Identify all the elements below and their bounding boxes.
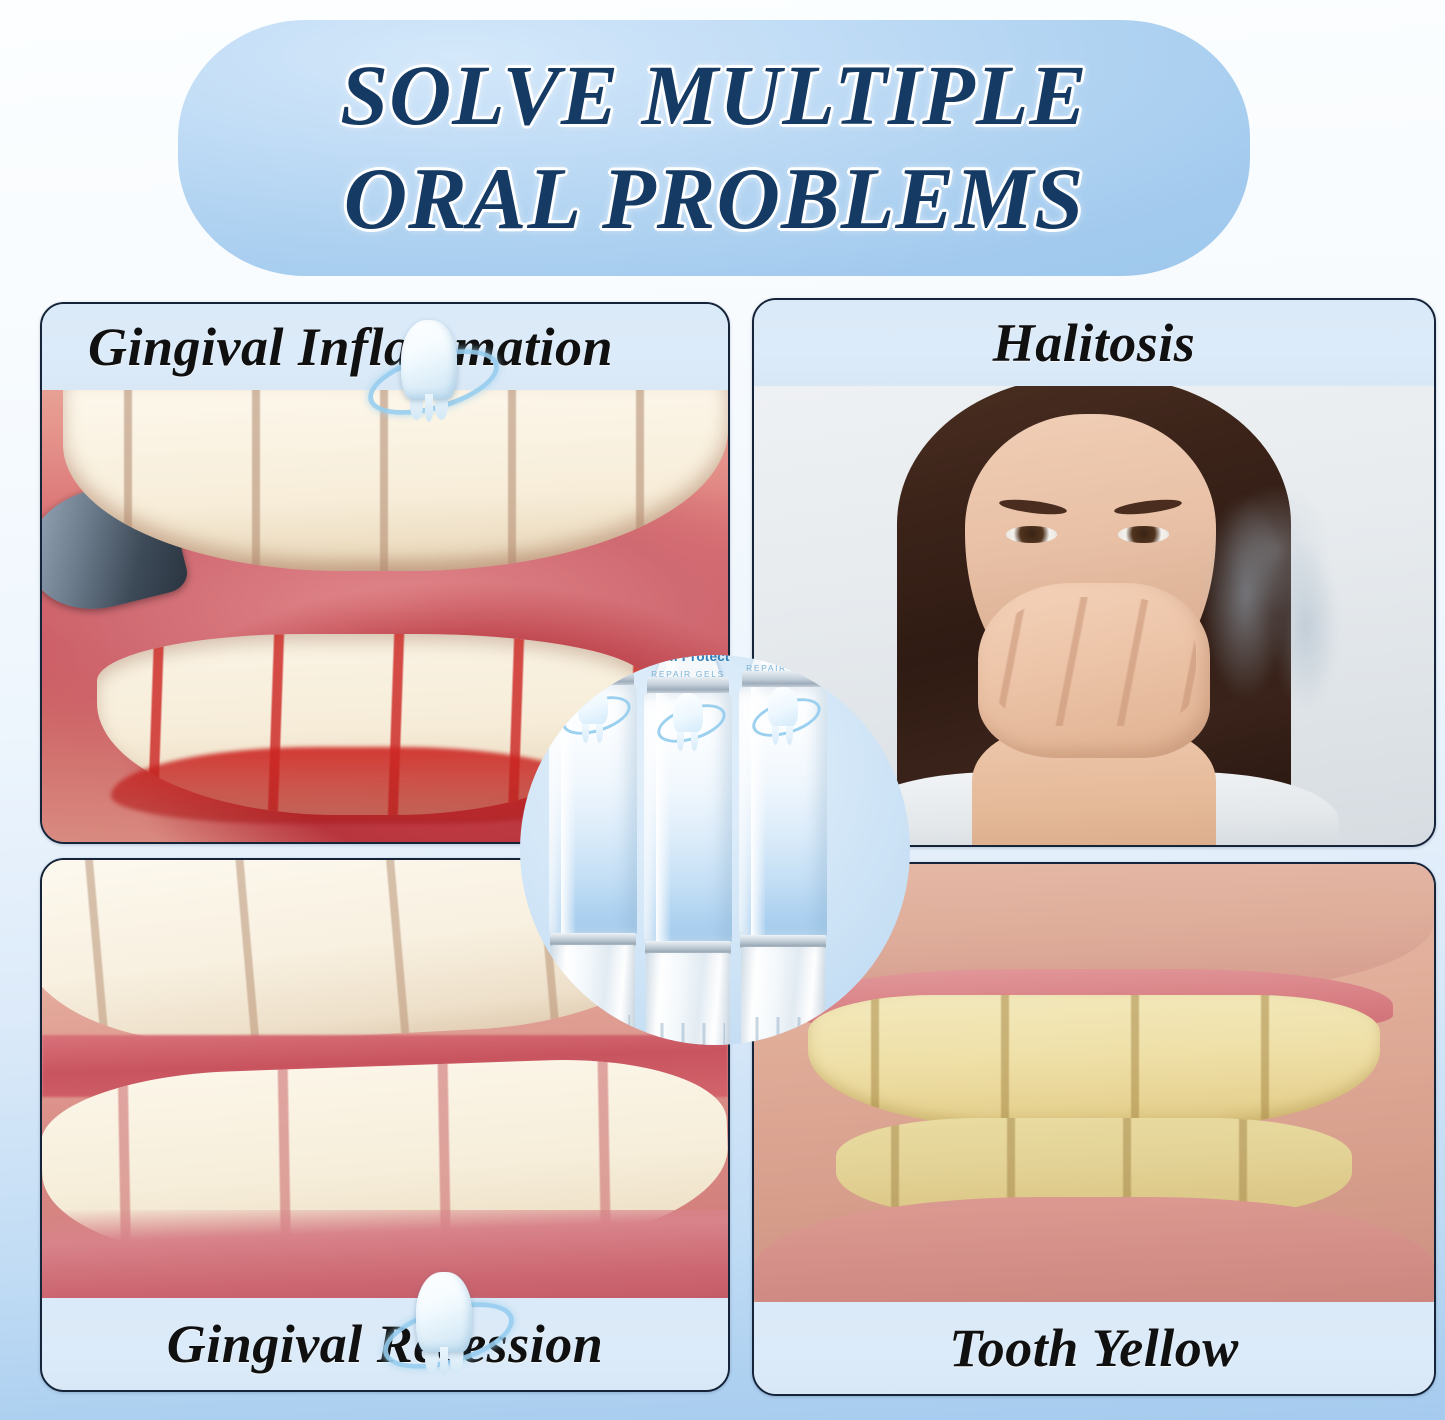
product-infographic-page: SOLVE MULTIPLE ORAL PROBLEMS Gingival In… (0, 0, 1445, 1420)
tooth-icon (756, 685, 810, 747)
product-showcase-circle: Gum Protect REPAIR GELS Gum Prote (520, 655, 910, 1045)
tube-base (646, 953, 730, 1045)
panel-label-band-halitosis: Halitosis (754, 300, 1434, 386)
product-brand-label: Gum Protect (739, 655, 827, 658)
breath-vapor-icon (1162, 487, 1393, 726)
tooth-crown (578, 685, 608, 723)
product-brand-label: Gum Protect (644, 655, 732, 664)
panel-label-tooth-yellow: Tooth Yellow (754, 1317, 1434, 1379)
tube-base (741, 947, 825, 1045)
product-subtitle-label: REPAIR GELS (549, 661, 637, 671)
product-tube: Gum Protect REPAIR GELS (739, 655, 827, 1045)
title-banner: SOLVE MULTIPLE ORAL PROBLEMS (178, 20, 1250, 276)
tooth-icon (398, 1270, 490, 1368)
panel-label-band-tooth-yellow: Tooth Yellow (754, 1302, 1434, 1394)
eye-left (1006, 526, 1057, 543)
receded-gum-shape (42, 1210, 728, 1306)
title-line-1: SOLVE MULTIPLE (340, 50, 1087, 141)
tooth-crown (673, 693, 703, 731)
tooth-crown (401, 320, 456, 399)
tooth-icon (383, 318, 475, 414)
product-tube: Gum Protect REPAIR GELS (644, 655, 732, 1045)
panel-label-halitosis: Halitosis (754, 312, 1434, 374)
tooth-icon (566, 683, 620, 745)
tooth-crown (768, 687, 798, 725)
title-line-2: ORAL PROBLEMS (344, 153, 1085, 246)
product-tube-group: Gum Protect REPAIR GELS Gum Prote (520, 655, 910, 1045)
tube-base (551, 945, 635, 1045)
tooth-crown (416, 1272, 471, 1352)
product-subtitle-label: REPAIR GELS (644, 669, 732, 679)
product-tube: Gum Protect REPAIR GELS (549, 655, 637, 1045)
tooth-icon (661, 691, 715, 753)
product-subtitle-label: REPAIR GELS (739, 663, 827, 673)
product-brand-label: Gum Protect (549, 655, 637, 656)
